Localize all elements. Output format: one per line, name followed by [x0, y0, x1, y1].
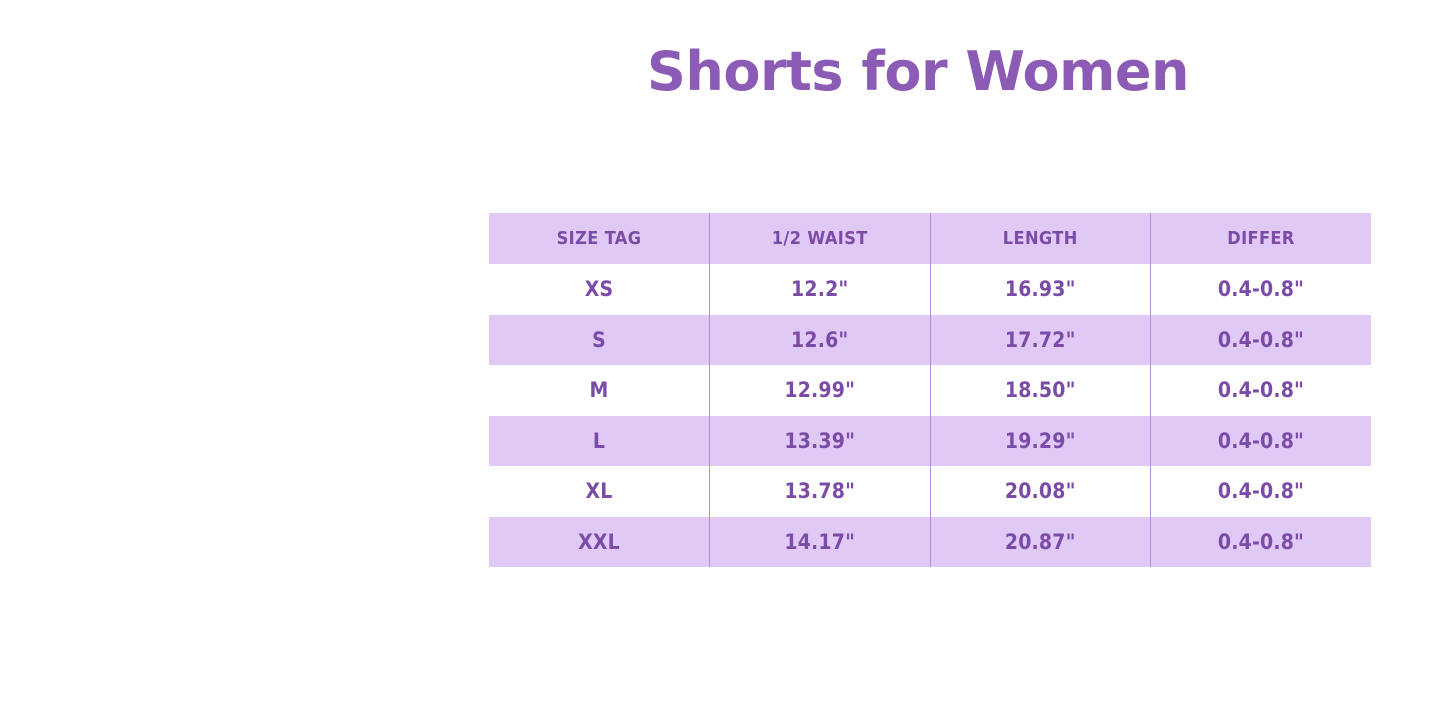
column-header-half-waist: 1/2 WAIST: [710, 213, 931, 264]
table-row: M 12.99" 18.50" 0.4-0.8": [489, 365, 1371, 416]
table-row: L 13.39" 19.29" 0.4-0.8": [489, 416, 1371, 467]
cell-differ: 0.4-0.8": [1151, 416, 1372, 467]
cell-half-waist: 12.99": [710, 365, 931, 416]
cell-length: 20.08": [930, 466, 1151, 517]
cell-differ: 0.4-0.8": [1151, 365, 1372, 416]
cell-size-tag: XS: [489, 264, 710, 315]
cell-half-waist: 14.17": [710, 517, 931, 568]
table-header: SIZE TAG 1/2 WAIST LENGTH DIFFER: [489, 213, 1371, 264]
cell-differ: 0.4-0.8": [1151, 264, 1372, 315]
cell-size-tag: XL: [489, 466, 710, 517]
cell-length: 17.72": [930, 315, 1151, 366]
cell-differ: 0.4-0.8": [1151, 315, 1372, 366]
cell-length: 18.50": [930, 365, 1151, 416]
cell-differ: 0.4-0.8": [1151, 466, 1372, 517]
cell-half-waist: 12.2": [710, 264, 931, 315]
cell-size-tag: M: [489, 365, 710, 416]
page-title: Shorts for Women: [0, 44, 1445, 101]
table-body: XS 12.2" 16.93" 0.4-0.8" S 12.6" 17.72" …: [489, 264, 1371, 567]
cell-length: 20.87": [930, 517, 1151, 568]
size-chart-page: Shorts for Women SIZE TAG 1/2 WAIST LENG…: [0, 0, 1445, 723]
cell-half-waist: 13.78": [710, 466, 931, 517]
table-row: S 12.6" 17.72" 0.4-0.8": [489, 315, 1371, 366]
column-header-size-tag: SIZE TAG: [489, 213, 710, 264]
table-row: XL 13.78" 20.08" 0.4-0.8": [489, 466, 1371, 517]
size-chart-table: SIZE TAG 1/2 WAIST LENGTH DIFFER XS 12.2…: [489, 213, 1371, 567]
table-header-row: SIZE TAG 1/2 WAIST LENGTH DIFFER: [489, 213, 1371, 264]
table-row: XS 12.2" 16.93" 0.4-0.8": [489, 264, 1371, 315]
column-header-differ: DIFFER: [1151, 213, 1372, 264]
cell-length: 19.29": [930, 416, 1151, 467]
cell-size-tag: S: [489, 315, 710, 366]
cell-half-waist: 13.39": [710, 416, 931, 467]
column-header-length: LENGTH: [930, 213, 1151, 264]
cell-size-tag: XXL: [489, 517, 710, 568]
cell-length: 16.93": [930, 264, 1151, 315]
size-chart-table-container: SIZE TAG 1/2 WAIST LENGTH DIFFER XS 12.2…: [489, 213, 1371, 567]
cell-differ: 0.4-0.8": [1151, 517, 1372, 568]
table-row: XXL 14.17" 20.87" 0.4-0.8": [489, 517, 1371, 568]
cell-half-waist: 12.6": [710, 315, 931, 366]
cell-size-tag: L: [489, 416, 710, 467]
